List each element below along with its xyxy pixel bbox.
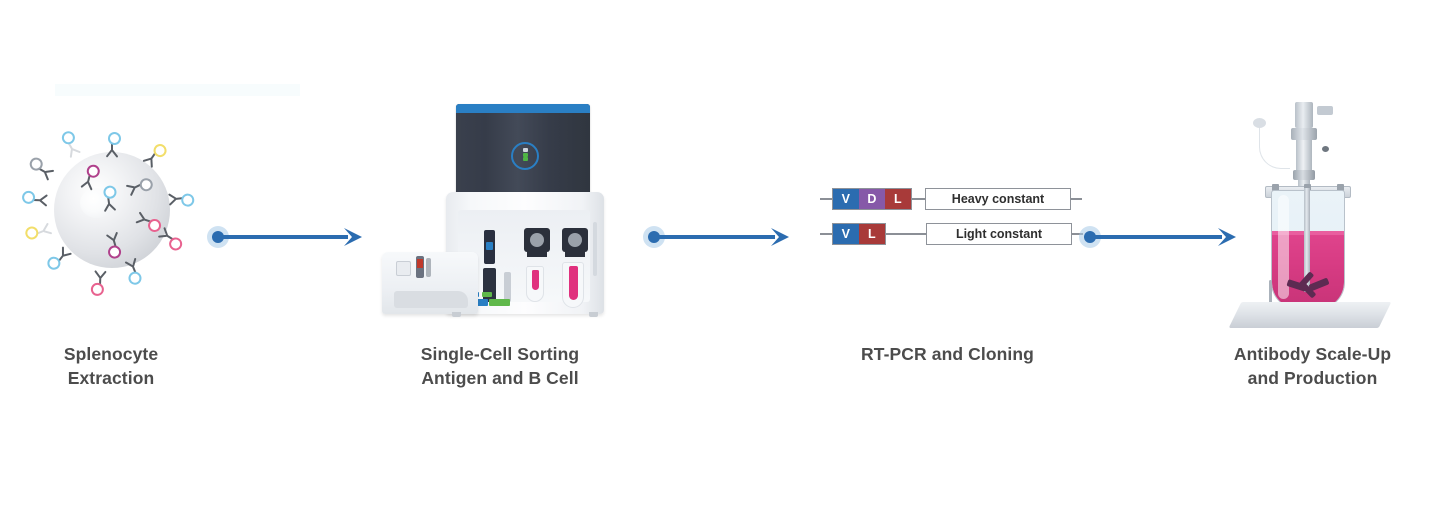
reactor-top-port <box>1317 106 1333 115</box>
caption-line-1: RT-PCR and Cloning <box>861 344 1034 364</box>
caption-line-2: Extraction <box>0 367 222 391</box>
connector-arrow-2 <box>642 224 792 250</box>
impeller-blades <box>1287 276 1329 298</box>
monitor-screen <box>456 113 590 195</box>
connector-arrow-1 <box>206 224 366 250</box>
arrow-graphic <box>206 224 366 250</box>
workflow-step-rt-pcr-cloning: V D L Heavy constant V L Light const <box>820 100 1075 400</box>
segment-l-light: L <box>859 224 885 244</box>
workflow-step-antibody-scale-up: Antibody Scale-Up and Production <box>1215 100 1410 400</box>
heavy-constant-region-box: Heavy constant <box>925 188 1071 210</box>
cell-sorter-illustration <box>380 100 620 340</box>
sample-tube-left <box>526 266 544 302</box>
construct-lead-line <box>820 233 832 235</box>
step-caption-splenocyte-extraction: Splenocyte Extraction <box>0 343 222 390</box>
benchtop-cell-sorter-icon <box>380 104 620 326</box>
loader-tray-opening <box>394 291 468 308</box>
workflow-step-splenocyte-extraction: Splenocyte Extraction <box>0 100 222 400</box>
sample-tube-right <box>562 262 584 308</box>
chassis-vent <box>593 222 597 276</box>
pump-module-left <box>524 228 550 252</box>
loader-knob <box>396 261 411 276</box>
antigen-studded-cell-icon <box>24 122 199 297</box>
light-constant-region-box: Light constant <box>926 223 1072 245</box>
caption-line-2: and Production <box>1215 367 1410 391</box>
antibody-discovery-workflow-diagram: Splenocyte Extraction <box>0 0 1440 510</box>
segment-l-heavy: L <box>885 189 911 209</box>
loader-arm <box>416 256 424 278</box>
construct-mid-line <box>886 233 926 235</box>
arrow-graphic <box>642 224 792 250</box>
heavy-chain-construct: V D L Heavy constant <box>820 188 1082 210</box>
step-caption-rt-pcr-cloning: RT-PCR and Cloning <box>820 343 1075 367</box>
reactor-fitting-a <box>1253 118 1266 128</box>
segment-v-light: V <box>833 224 859 244</box>
instrument-feet <box>450 312 600 317</box>
splenocyte-illustration <box>0 100 222 340</box>
reactor-drive-motor <box>1291 102 1317 194</box>
step-caption-single-cell-sorting: Single-Cell Sorting Antigen and B Cell <box>380 343 620 390</box>
workflow-step-single-cell-sorting: Single-Cell Sorting Antigen and B Cell <box>380 100 620 400</box>
reactor-fitting-b <box>1322 146 1329 152</box>
stirred-tank-bioreactor-icon <box>1229 102 1399 328</box>
segment-d-heavy: D <box>859 189 885 209</box>
gene-construct-illustration: V D L Heavy constant V L Light const <box>820 100 1075 340</box>
bioreactor-illustration <box>1215 100 1410 340</box>
loader-arm-secondary <box>426 258 431 277</box>
pump-module-right <box>562 228 588 252</box>
sample-loader-module <box>382 252 478 314</box>
antibody-gene-constructs: V D L Heavy constant V L Light const <box>820 188 1075 260</box>
sorting-status-icon <box>511 142 539 170</box>
instrument-monitor <box>456 104 590 204</box>
light-chain-segments: V L <box>832 223 886 245</box>
caption-line-1: Splenocyte <box>64 344 158 364</box>
step-caption-antibody-scale-up: Antibody Scale-Up and Production <box>1215 343 1410 390</box>
reactor-feed-tube <box>1259 124 1290 169</box>
caption-line-2: Antigen and B Cell <box>380 367 620 391</box>
construct-lead-line <box>820 198 832 200</box>
construct-tail-line <box>1071 198 1082 200</box>
segment-v-heavy: V <box>833 189 859 209</box>
reactor-base-plate <box>1229 302 1392 328</box>
construct-mid-line <box>912 198 925 200</box>
decorative-banner-band <box>55 84 300 96</box>
sampling-probe <box>484 230 495 264</box>
caption-line-1: Single-Cell Sorting <box>421 344 579 364</box>
caption-line-1: Antibody Scale-Up <box>1234 344 1391 364</box>
heavy-chain-segments: V D L <box>832 188 912 210</box>
light-chain-construct: V L Light constant <box>820 223 1083 245</box>
